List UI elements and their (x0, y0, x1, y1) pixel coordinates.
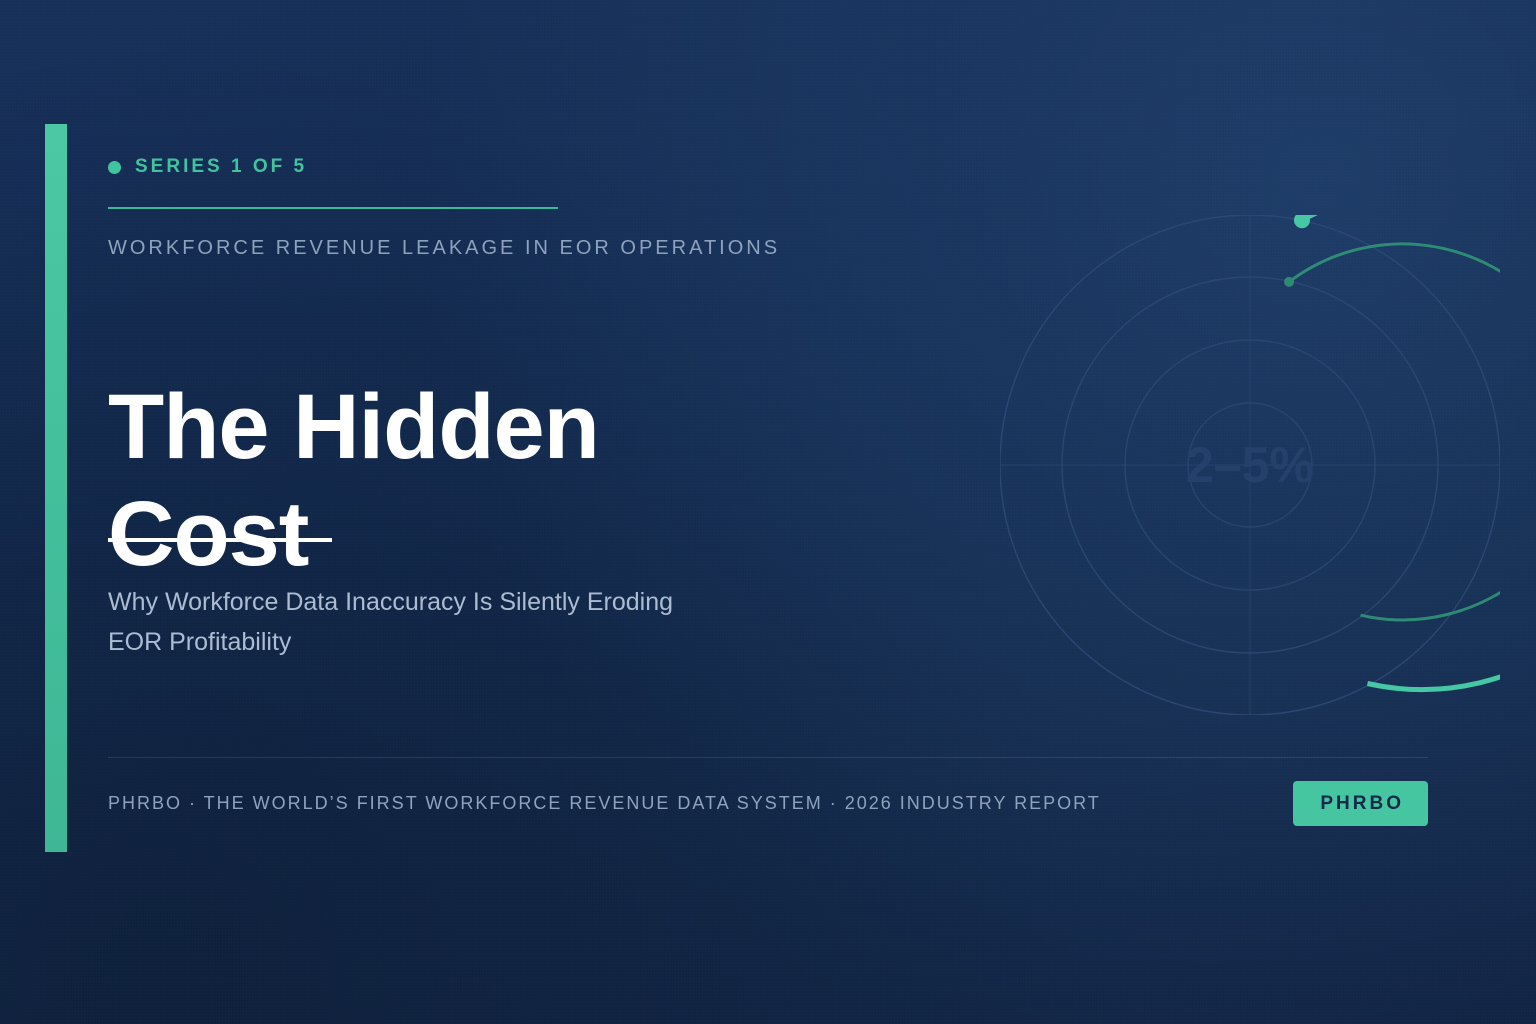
slide-canvas: 2–5% SERIES 1 OF 5 WORKFORCE REVENUE LEA… (0, 0, 1536, 1024)
content-column: SERIES 1 OF 5 WORKFORCE REVENUE LEAKAGE … (108, 0, 1428, 1024)
page-title: The Hidden Cost (108, 374, 808, 589)
left-accent-bar (45, 124, 67, 852)
series-label: SERIES 1 OF 5 (135, 156, 307, 178)
headline-underline (108, 538, 332, 542)
kicker-text: WORKFORCE REVENUE LEAKAGE IN EOR OPERATI… (108, 237, 780, 260)
footer: PHRBO · THE WORLD’S FIRST WORKFORCE REVE… (108, 780, 1428, 826)
brand-badge: PHRBO (1293, 781, 1428, 826)
footer-divider (108, 757, 1428, 758)
footer-caption: PHRBO · THE WORLD’S FIRST WORKFORCE REVE… (108, 793, 1101, 814)
subtitle-text: Why Workforce Data Inaccuracy Is Silentl… (108, 583, 728, 662)
bullet-dot-icon (108, 161, 121, 174)
eyebrow-divider (108, 207, 558, 209)
series-eyebrow: SERIES 1 OF 5 (108, 156, 307, 178)
